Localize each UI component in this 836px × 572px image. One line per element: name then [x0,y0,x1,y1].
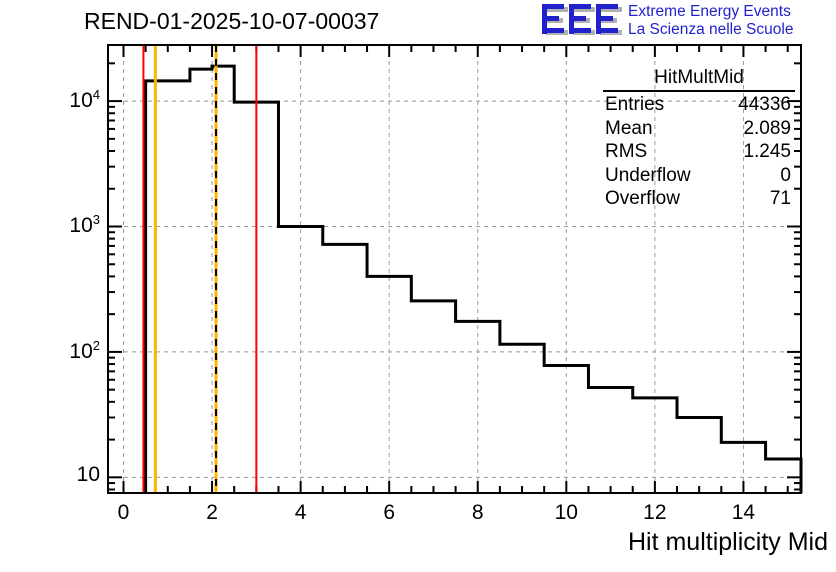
stats-key: RMS [605,140,647,164]
x-tick-label: 4 [271,501,331,525]
stats-key: Entries [605,93,664,117]
x-tick-label: 2 [182,501,242,525]
stats-key: Mean [605,117,653,141]
stats-key: Overflow [605,187,680,211]
stats-row: RMS1.245 [603,140,795,164]
y-tick-label: 104 [69,87,100,113]
stats-row: Overflow71 [603,187,795,211]
stats-row: Underflow0 [603,164,795,188]
stats-value: 2.089 [743,117,791,141]
x-tick-label: 10 [536,501,596,525]
x-tick-label: 0 [93,501,153,525]
stats-value: 71 [770,187,791,211]
x-tick-label: 14 [713,501,773,525]
x-tick-label: 6 [359,501,419,525]
y-tick-label: 103 [69,212,100,238]
stats-value: 0 [780,164,791,188]
x-axis-title: Hit multiplicity Mid [628,528,828,557]
histogram-canvas: REND-01-2025-10-07-00037 [0,0,836,572]
stats-row: Entries44336 [603,93,795,117]
stats-value: 1.245 [743,140,791,164]
stats-value: 44336 [738,93,791,117]
stats-key: Underflow [605,164,691,188]
y-tick-label: 10 [77,463,100,487]
x-tick-label: 8 [448,501,508,525]
stats-rows: Entries44336Mean2.089RMS1.245Underflow0O… [603,93,795,211]
y-tick-label: 102 [69,338,100,364]
stats-box: HitMultMid Entries44336Mean2.089RMS1.245… [603,67,795,211]
x-tick-label: 12 [625,501,685,525]
stats-title: HitMultMid [603,67,795,92]
stats-row: Mean2.089 [603,117,795,141]
